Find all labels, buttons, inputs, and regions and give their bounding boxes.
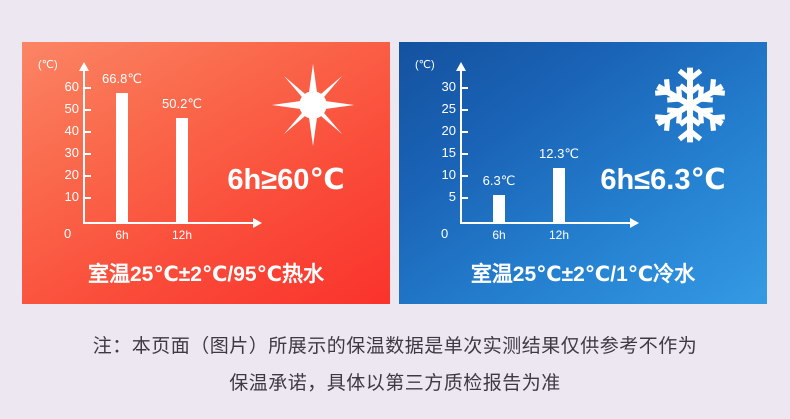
snowflake-icon <box>647 62 733 148</box>
hot-chart-ytick: 60 <box>85 87 91 89</box>
hot-chart-unit-label: (℃) <box>38 58 58 71</box>
footnote-line-1: 注：本页面（图片）所展示的保温数据是单次实测结果仅供参考不作为 <box>0 328 790 365</box>
cold-chart-y-axis-arrow-icon <box>456 62 466 71</box>
cold-chart-ytick-label: 30 <box>442 79 456 94</box>
comparison-panels: (℃) 60 50 40 30 20 10 0 66.8℃ 6h 50.2℃ <box>0 0 790 320</box>
hot-caption: 室温25℃±2℃/95℃热水 <box>22 258 390 288</box>
footnote: 注：本页面（图片）所展示的保温数据是单次实测结果仅供参考不作为 保温承诺，具体以… <box>0 328 790 402</box>
cold-chart-ytick-label: 15 <box>442 145 456 160</box>
cold-chart-ytick-label: 10 <box>442 167 456 182</box>
cold-chart-ytick-label: 20 <box>442 123 456 138</box>
hot-chart-ytick: 30 <box>85 153 91 155</box>
cold-chart: (℃) 30 25 20 15 10 5 0 6.3℃ 6h 12.3℃ <box>413 58 643 248</box>
cold-chart-bar-12h <box>553 168 565 222</box>
cold-chart-zero-label: 0 <box>441 226 448 241</box>
hot-chart-ytick: 40 <box>85 131 91 133</box>
hot-chart-ytick: 10 <box>85 197 91 199</box>
hot-chart-bar-6h <box>116 93 128 222</box>
hot-chart-cat-label-12h: 12h <box>172 228 192 242</box>
hot-chart-ytick: 50 <box>85 109 91 111</box>
cold-chart-ytick: 25 <box>462 109 468 111</box>
cold-chart-ytick: 15 <box>462 153 468 155</box>
cold-water-panel: (℃) 30 25 20 15 10 5 0 6.3℃ 6h 12.3℃ <box>399 42 767 304</box>
hot-chart-ytick-label: 50 <box>65 101 79 116</box>
cold-chart-x-axis-arrow-icon <box>630 218 639 228</box>
cold-chart-ytick: 30 <box>462 87 468 89</box>
hot-chart-y-axis-arrow-icon <box>79 62 89 71</box>
cold-chart-ytick: 5 <box>462 197 468 199</box>
cold-chart-bar-value-6h: 6.3℃ <box>483 173 516 189</box>
hot-chart-ytick-label: 30 <box>65 145 79 160</box>
hot-chart-x-axis-arrow-icon <box>253 218 262 228</box>
cold-chart-ytick: 10 <box>462 175 468 177</box>
cold-headline: 6h≤6.3℃ <box>573 162 753 197</box>
cold-chart-ytick-label: 25 <box>442 101 456 116</box>
cold-chart-bar-6h <box>493 195 505 222</box>
sun-icon <box>270 62 356 148</box>
cold-chart-ytick-label: 5 <box>449 189 456 204</box>
cold-caption: 室温25℃±2℃/1℃冷水 <box>399 258 767 288</box>
hot-chart-bar-value-12h: 50.2℃ <box>162 96 202 112</box>
hot-chart-x-axis <box>83 222 255 224</box>
hot-chart-ytick-label: 20 <box>65 167 79 182</box>
hot-chart-ytick-label: 40 <box>65 123 79 138</box>
hot-water-panel: (℃) 60 50 40 30 20 10 0 66.8℃ 6h 50.2℃ <box>22 42 390 304</box>
cold-chart-cat-label-12h: 12h <box>549 228 569 242</box>
hot-chart-ytick: 20 <box>85 175 91 177</box>
hot-chart-zero-label: 0 <box>64 226 71 241</box>
hot-chart: (℃) 60 50 40 30 20 10 0 66.8℃ 6h 50.2℃ <box>36 58 266 248</box>
hot-chart-ytick-label: 10 <box>65 189 79 204</box>
hot-headline: 6h≥60℃ <box>196 162 376 197</box>
hot-chart-cat-label-6h: 6h <box>115 228 128 242</box>
hot-chart-ytick-label: 60 <box>65 79 79 94</box>
cold-chart-cat-label-6h: 6h <box>492 228 505 242</box>
hot-chart-y-axis <box>83 70 85 224</box>
cold-chart-ytick: 20 <box>462 131 468 133</box>
hot-chart-bar-12h <box>176 118 188 222</box>
footnote-line-2: 保温承诺，具体以第三方质检报告为准 <box>0 365 790 402</box>
cold-chart-bar-value-12h: 12.3℃ <box>539 146 579 162</box>
cold-chart-x-axis <box>460 222 632 224</box>
cold-chart-y-axis <box>460 70 462 224</box>
cold-chart-unit-label: (℃) <box>415 58 435 71</box>
hot-chart-bar-value-6h: 66.8℃ <box>102 71 142 87</box>
